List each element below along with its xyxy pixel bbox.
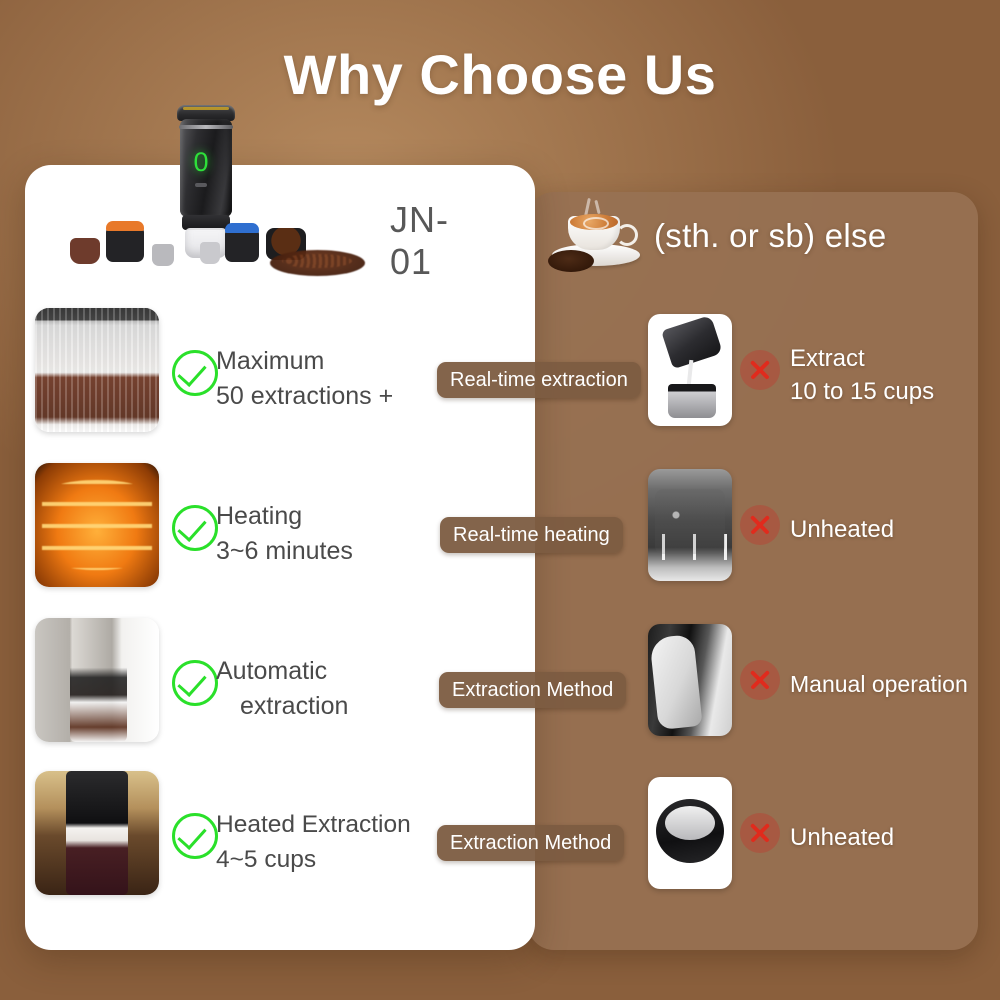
row-2-left-text: Heating 3~6 minutes bbox=[216, 499, 456, 569]
row-2-feature-pill: Real-time heating bbox=[440, 517, 623, 553]
row-1-left-line1: Maximum bbox=[216, 347, 324, 375]
row-3-left-text: Automatic extraction bbox=[216, 654, 456, 724]
latte-art-icon bbox=[570, 214, 618, 230]
row-1-right-text: Extract 10 to 15 cups bbox=[790, 342, 995, 408]
infographic-canvas: Why Choose Us 0 JN-01 bbox=[0, 0, 1000, 1000]
row-1-right-line2: 10 to 15 cups bbox=[790, 378, 934, 405]
steam-icon bbox=[594, 200, 600, 214]
red-cross-icon bbox=[740, 505, 780, 545]
capsule-icon bbox=[152, 244, 174, 266]
green-check-icon bbox=[172, 813, 218, 859]
row-3-left-line2: extraction bbox=[216, 689, 456, 724]
capsule-lid-icon bbox=[225, 223, 259, 233]
green-check-icon bbox=[172, 660, 218, 706]
row-1-left-text: Maximum 50 extractions + bbox=[216, 344, 456, 414]
row-2-left-line2: 3~6 minutes bbox=[216, 534, 456, 569]
capsule-icon bbox=[70, 238, 100, 264]
row-2-right-thumbnail bbox=[648, 469, 732, 581]
comparison-row: Heated Extraction 4~5 cups Extraction Me… bbox=[0, 763, 1000, 903]
red-cross-icon bbox=[740, 813, 780, 853]
row-3-left-line1: Automatic bbox=[216, 657, 327, 685]
capsule-icon bbox=[225, 230, 259, 262]
hero-product-image: 0 JN-01 bbox=[60, 105, 480, 280]
row-4-feature-pill: Extraction Method bbox=[437, 825, 624, 861]
row-3-feature-pill: Extraction Method bbox=[439, 672, 626, 708]
capsule-icon bbox=[200, 242, 220, 264]
row-4-right-thumbnail bbox=[648, 777, 732, 889]
machine-display-value: 0 bbox=[175, 147, 227, 178]
right-column-header: (sth. or sb) else bbox=[548, 196, 968, 276]
mug-icon bbox=[668, 384, 716, 418]
cup-handle-icon bbox=[616, 224, 638, 246]
coffee-cup-icon bbox=[548, 198, 648, 274]
thumb-overlay bbox=[70, 618, 127, 742]
filter-basket-icon bbox=[656, 799, 724, 863]
thumb-overlay bbox=[66, 771, 128, 895]
row-4-right-text: Unheated bbox=[790, 821, 995, 854]
machine-ring-icon bbox=[179, 125, 233, 129]
row-3-right-text: Manual operation bbox=[790, 668, 1000, 701]
row-2-right-text: Unheated bbox=[790, 513, 995, 546]
row-3-left-thumbnail bbox=[35, 618, 159, 742]
row-2-left-line1: Heating bbox=[216, 502, 302, 530]
row-1-right-thumbnail bbox=[648, 314, 732, 426]
green-check-icon bbox=[172, 350, 218, 396]
row-1-left-line2: 50 extractions + bbox=[216, 379, 456, 414]
comparison-row: Heating 3~6 minutes Real-time heating Un… bbox=[0, 455, 1000, 595]
row-1-right-line1: Extract bbox=[790, 345, 865, 372]
product-name-label: JN-01 bbox=[390, 199, 480, 283]
comparison-row: Automatic extraction Extraction Method M… bbox=[0, 610, 1000, 750]
right-column-header-label: (sth. or sb) else bbox=[654, 217, 887, 255]
ground-coffee-icon bbox=[270, 250, 365, 276]
row-4-left-thumbnail bbox=[35, 771, 159, 895]
machine-led-icon bbox=[195, 183, 207, 187]
row-1-left-thumbnail bbox=[35, 308, 159, 432]
thumb-overlay bbox=[35, 308, 159, 432]
row-3-right-thumbnail bbox=[648, 624, 732, 736]
hand-thumb-icon bbox=[649, 634, 702, 730]
red-cross-icon bbox=[740, 350, 780, 390]
green-check-icon bbox=[172, 505, 218, 551]
page-title: Why Choose Us bbox=[0, 42, 1000, 107]
row-1-feature-pill: Real-time extraction bbox=[437, 362, 641, 398]
row-3-right-line1: Manual operation bbox=[790, 671, 968, 697]
row-2-left-thumbnail bbox=[35, 463, 159, 587]
row-2-right-line1: Unheated bbox=[790, 516, 894, 543]
row-4-left-line1: Heated Extraction bbox=[216, 811, 411, 838]
coffee-beans-icon bbox=[548, 250, 594, 272]
up-arrows-icon bbox=[648, 534, 732, 560]
comparison-row: Maximum 50 extractions + Real-time extra… bbox=[0, 300, 1000, 440]
capsule-lid-icon bbox=[106, 221, 144, 231]
row-4-right-line1: Unheated bbox=[790, 824, 894, 851]
red-cross-icon bbox=[740, 660, 780, 700]
capsule-icon bbox=[106, 228, 144, 262]
